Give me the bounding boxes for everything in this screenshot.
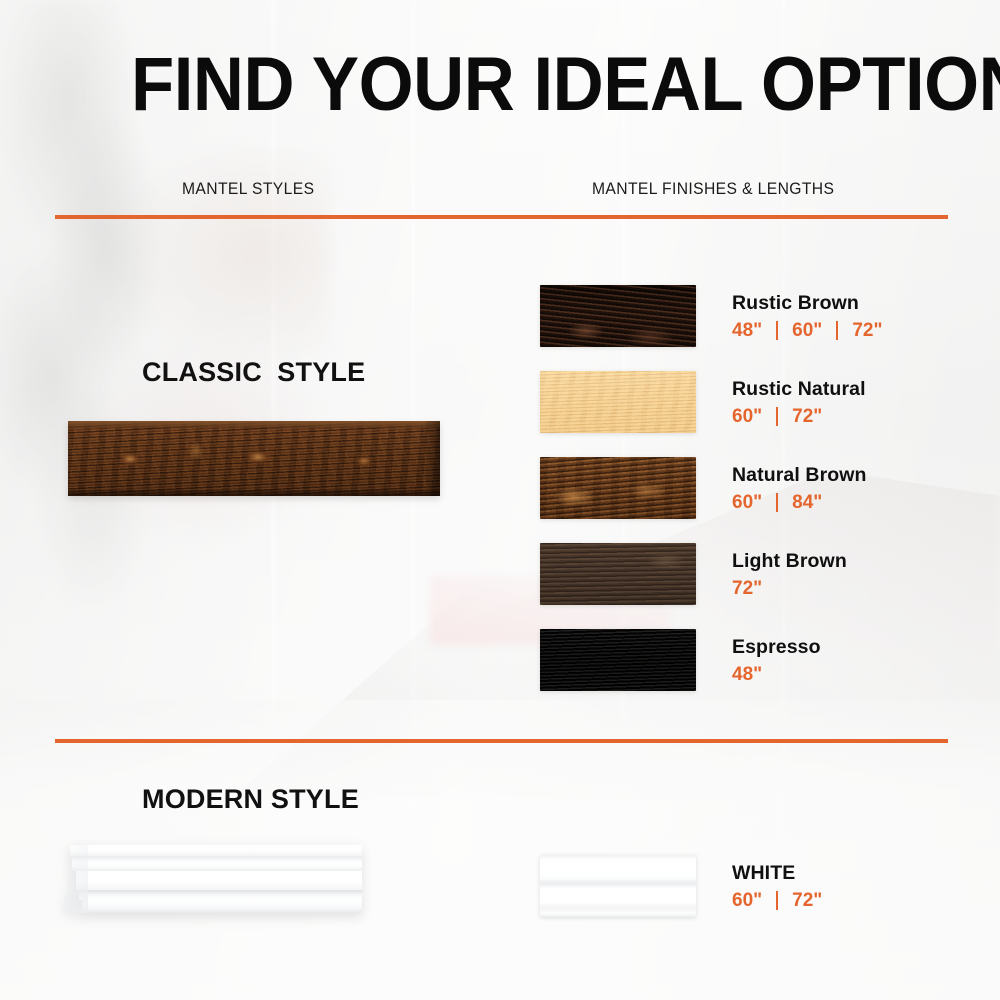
finish-sizes: 48" 60" 72" [732,320,882,342]
page-title: FIND YOUR IDEAL OPTION [131,47,1000,123]
finish-text-block: WHITE 60" 72" [732,861,822,912]
size-separator [776,321,778,340]
finish-name: WHITE [732,861,822,885]
finish-name: Light Brown [732,549,847,573]
mantel-top-bevel [68,421,440,428]
mantel-bottom-edge [68,490,440,496]
molding-face [76,871,362,890]
finish-text-block: Rustic Natural 60" 72" [732,377,866,428]
style-label-modern: MODERN STYLE [142,784,359,815]
divider-rule-top [55,215,948,219]
mantel-right-end [426,421,440,496]
infographic-page: FIND YOUR IDEAL OPTION MANTEL STYLES MAN… [0,0,1000,1000]
column-header-mantel-styles: MANTEL STYLES [182,180,314,199]
finish-size: 60" [732,890,762,912]
finish-size: 60" [732,406,762,428]
finish-size: 72" [792,406,822,428]
finish-sizes: 72" [732,578,847,600]
style-label-classic: CLASSIC STYLE [142,357,365,388]
finish-name: Espresso [732,635,821,659]
swatch-light-brown [540,543,696,605]
molding-end-cap [62,845,88,913]
finish-sizes: 60" 72" [732,406,866,428]
mantel-wood-body [68,421,440,496]
swatch-white [540,855,696,917]
finish-name: Rustic Brown [732,291,882,315]
finish-size: 72" [852,320,882,342]
finish-row-natural-brown: Natural Brown 60" 84" [540,457,950,519]
divider-rule-middle [55,739,948,743]
finish-sizes: 60" 72" [732,890,822,912]
finish-size: 72" [732,578,762,600]
finish-sizes: 60" 84" [732,492,867,514]
modern-mantel-product-image [62,845,362,913]
size-separator [776,891,778,910]
finish-size: 72" [792,890,822,912]
finish-row-light-brown: Light Brown 72" [540,543,950,605]
finish-row-rustic-natural: Rustic Natural 60" 72" [540,371,950,433]
classic-mantel-product-image [68,421,440,496]
finish-name: Rustic Natural [732,377,866,401]
swatch-espresso [540,629,696,691]
finish-size: 60" [792,320,822,342]
finish-text-block: Natural Brown 60" 84" [732,463,867,514]
swatch-natural-brown [540,457,696,519]
finish-sizes: 48" [732,664,821,686]
molding-top-surface [70,845,362,856]
size-separator [836,321,838,340]
finish-name: Natural Brown [732,463,867,487]
finish-text-block: Light Brown 72" [732,549,847,600]
molding-step [79,890,362,900]
size-separator [776,407,778,426]
finish-size: 48" [732,320,762,342]
swatch-rustic-brown [540,285,696,347]
finish-size: 84" [792,492,822,514]
finish-text-block: Rustic Brown 48" 60" 72" [732,291,882,342]
finish-row-rustic-brown: Rustic Brown 48" 60" 72" [540,285,950,347]
swatch-rustic-natural [540,371,696,433]
molding-ogee-curve [72,856,362,871]
column-header-finishes-lengths: MANTEL FINISHES & LENGTHS [592,180,834,199]
finish-size: 60" [732,492,762,514]
finish-row-white: WHITE 60" 72" [540,855,950,917]
molding-base [82,900,362,913]
size-separator [776,493,778,512]
finish-row-espresso: Espresso 48" [540,629,950,691]
finish-size: 48" [732,664,762,686]
finish-text-block: Espresso 48" [732,635,821,686]
